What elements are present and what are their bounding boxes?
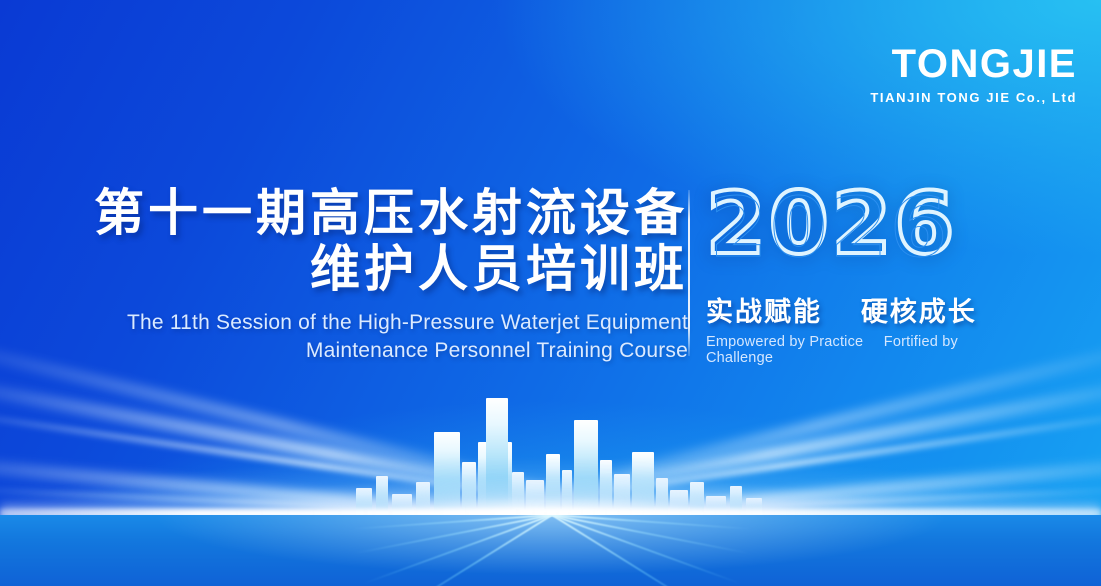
headline-chinese-line1: 第十一期高压水射流设备 — [88, 185, 688, 241]
year-graphic: 2026 2026 — [706, 184, 1016, 284]
ground-plane — [0, 515, 1101, 586]
vertical-divider — [688, 190, 690, 356]
slogan-chinese-part2: 硬核成长 — [861, 290, 977, 329]
logo-legal-name: TIANJIN TONG JIE Co., Ltd — [870, 91, 1077, 104]
headline-block: 第十一期高压水射流设备 维护人员培训班 The 11th Session of … — [88, 185, 688, 366]
logo-wordmark: TONGJIE — [870, 44, 1077, 84]
slogan-chinese-part1: 实战赋能 — [706, 290, 822, 329]
headline-chinese-line2: 维护人员培训班 — [88, 241, 688, 297]
headline-chinese: 第十一期高压水射流设备 维护人员培训班 — [88, 185, 688, 297]
headline-english-line2: Maintenance Personnel Training Course — [88, 337, 688, 365]
slogan-english: Empowered by Practice Fortified by Chall… — [706, 334, 1016, 366]
headline-english: The 11th Session of the High-Pressure Wa… — [88, 309, 688, 366]
slogan-chinese: 实战赋能 硬核成长 — [706, 290, 1016, 329]
year-inner-stroke: 2026 — [710, 190, 950, 268]
poster-banner: TONGJIE TIANJIN TONG JIE Co., Ltd 第十一期高压… — [0, 0, 1101, 586]
year-slogan-block: 2026 2026 实战赋能 硬核成长 Empowered by Practic… — [706, 184, 1016, 366]
slogan-english-part1: Empowered by Practice — [706, 334, 863, 350]
headline-english-line1: The 11th Session of the High-Pressure Wa… — [88, 309, 688, 337]
company-logo: TONGJIE TIANJIN TONG JIE Co., Ltd — [870, 44, 1077, 104]
